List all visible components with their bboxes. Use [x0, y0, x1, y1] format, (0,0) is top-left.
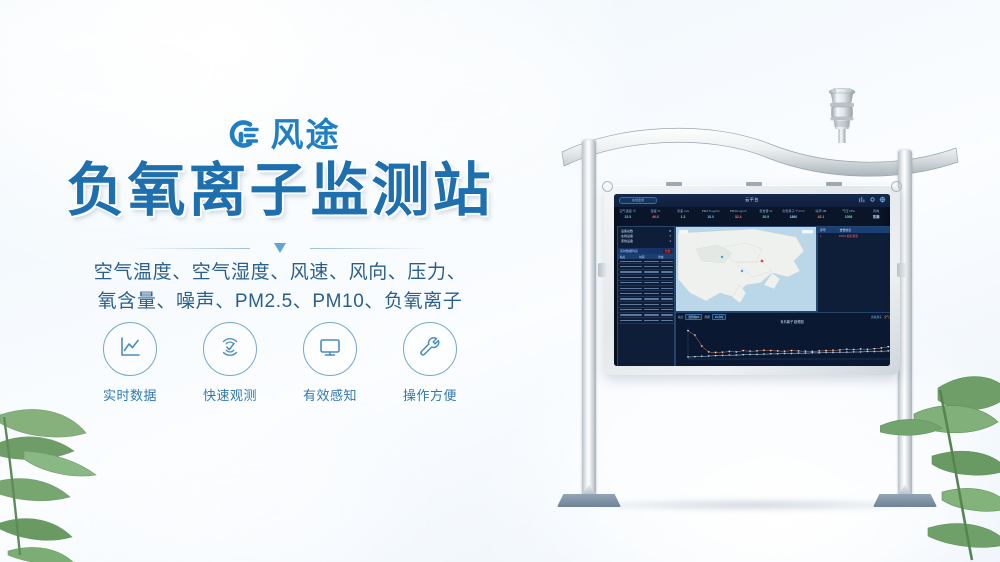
feature-effective-sensing[interactable]: 有效感知 [295, 322, 365, 404]
dashboard-header: 在线监测 云平台 [614, 194, 890, 207]
kpi-value: 20.9 [752, 214, 780, 220]
parameter-line-2: 氧含量、噪声、PM2.5、PM10、负氧离子 [0, 287, 560, 316]
status-badge: 在线监测 [619, 197, 657, 204]
ultrasonic-weather-sensor [820, 84, 864, 146]
kpi-value: 42.1 [807, 214, 835, 220]
outdoor-display-unit: 在线监测 云平台 空气温度 ℃ 23.5 [604, 185, 900, 375]
feature-label: 快速观测 [195, 385, 265, 404]
title-divider [130, 243, 430, 253]
brand-lockup: 风途 [0, 113, 560, 155]
brand-name: 风途 [271, 118, 341, 151]
chart-legend-item[interactable]: 空气温度 [884, 315, 890, 319]
parameter-list: 空气温度、空气湿度、风速、风向、压力、 氧含量、噪声、PM2.5、PM10、负氧… [0, 258, 560, 317]
mount-bracket [826, 182, 842, 186]
kpi-value: 1.2 [669, 214, 697, 220]
globe-icon [879, 196, 886, 203]
table-title: 实时数据列表 [620, 249, 638, 253]
feature-icon-ring [403, 322, 457, 376]
chart-legend-item[interactable]: 负氧离子 [871, 315, 882, 319]
kpi-value: 32.4 [724, 214, 752, 220]
promo-banner: 风途 负氧离子监测站 空气温度、空气湿度、风速、风向、压力、 氧含量、噪声、PM… [0, 0, 1000, 562]
column-header: 时间 [639, 255, 656, 259]
trend-chart-panel: 站点 监测站01 周期 24小时 负氧离子 空气温度 查询 负氧离子 趋势图 [675, 312, 890, 366]
column-header: 告警信息 [840, 228, 890, 232]
kpi-value: 23.5 [614, 214, 642, 220]
device-stats: 设备总数 8 在线设备 7 离线设备 1 [618, 227, 674, 246]
stat-row: 离线设备 1 [621, 239, 671, 244]
feature-icon-ring [203, 322, 257, 376]
dashboard-title: 云平台 [745, 197, 759, 203]
feature-fast-observation[interactable]: 快速观测 [195, 322, 265, 404]
divider-diamond [274, 243, 286, 253]
kpi-value: 46.8 [642, 214, 670, 220]
chart-icon [859, 196, 866, 203]
column-header: 序号 [820, 228, 837, 232]
header-icon-group[interactable] [859, 196, 886, 203]
mount-hook-left [602, 181, 613, 192]
mount-bracket [666, 182, 682, 186]
mount-bracket [746, 182, 762, 186]
chart-filter-label: 站点 [678, 315, 683, 319]
dashboard: 在线监测 云平台 空气温度 ℃ 23.5 [614, 194, 890, 366]
kpi-value: 18.0 [697, 214, 725, 220]
side-lug-left [598, 263, 607, 277]
kpi-card: 噪声 dB 42.1 [807, 207, 835, 224]
station-map-panel[interactable] [675, 226, 817, 312]
kpi-card: 空气温度 ℃ 23.5 [614, 207, 642, 224]
feature-label: 有效感知 [295, 385, 365, 404]
feature-icon-ring [303, 322, 357, 376]
trend-chart-svg [680, 325, 890, 363]
china-map[interactable] [676, 227, 816, 311]
dashboard-screen[interactable]: 在线监测 云平台 空气温度 ℃ 23.5 [614, 194, 890, 366]
chart-plot-area [680, 325, 890, 363]
kpi-card: PM2.5 ug/m³ 18.0 [697, 207, 725, 224]
mount-hook-right [891, 181, 902, 192]
kpi-card: 湿度 % 46.8 [642, 207, 670, 224]
alarm-index: 1 [820, 234, 837, 238]
gear-icon [869, 196, 876, 203]
kpi-card: PM10 ug/m³ 32.4 [724, 207, 752, 224]
chart-title: 负氧离子 趋势图 [676, 320, 890, 324]
parameter-line-1: 空气温度、空气湿度、风速、风向、压力、 [0, 258, 560, 287]
chart-range-select[interactable]: 24小时 [712, 314, 726, 320]
divider-line-right [310, 248, 430, 249]
support-post-left [582, 140, 596, 500]
kpi-value: 1008 [835, 214, 863, 220]
column-header: 状态 [658, 255, 672, 259]
kpi-card: 负氧离子 个/cm³ 1860 [780, 207, 808, 224]
table-row[interactable] [618, 318, 674, 323]
chart-range-label: 周期 [704, 315, 709, 319]
kpi-card: 氧含量 % 20.9 [752, 207, 780, 224]
wind-g-logo-icon [220, 113, 262, 155]
alarm-row[interactable]: 1 PM10 超标报警 [818, 233, 890, 238]
feature-easy-operation[interactable]: 操作方便 [395, 322, 465, 404]
kpi-value: 1860 [780, 214, 808, 220]
banana-leaf-plant-left [0, 355, 155, 562]
chart-toolbar[interactable]: 站点 监测站01 周期 24小时 负氧离子 空气温度 查询 [676, 313, 890, 320]
status-badge[interactable]: 告警 [663, 249, 672, 253]
kpi-value: 东南 [862, 214, 890, 220]
side-lug-right [897, 263, 906, 277]
feature-label: 操作方便 [395, 385, 465, 404]
kpi-row: 空气温度 ℃ 23.5 湿度 % 46.8 风速 m/s 1.2 PM2.5 [614, 207, 890, 224]
stat-label: 离线设备 [621, 239, 633, 244]
kpi-card: 风速 m/s 1.2 [669, 207, 697, 224]
divider-line-left [130, 248, 250, 249]
page-title: 负氧离子监测站 [0, 160, 560, 223]
device-summary-panel: 设备总数 8 在线设备 7 离线设备 1 [617, 226, 675, 366]
monitor-screen-icon [317, 334, 343, 365]
kpi-card: 气压 hPa 1008 [835, 207, 863, 224]
column-header: 站点 [620, 255, 637, 259]
kpi-card: 风向 东南 [862, 207, 890, 224]
banana-leaf-plant-right [880, 360, 1000, 562]
chart-station-select[interactable]: 监测站01 [685, 314, 702, 320]
radar-scan-icon [217, 334, 243, 365]
wrench-icon [417, 334, 443, 365]
table-column-headers: 站点 时间 状态 [618, 254, 674, 259]
stat-value: 1 [669, 239, 671, 244]
alarm-message: PM10 超标报警 [839, 234, 890, 238]
